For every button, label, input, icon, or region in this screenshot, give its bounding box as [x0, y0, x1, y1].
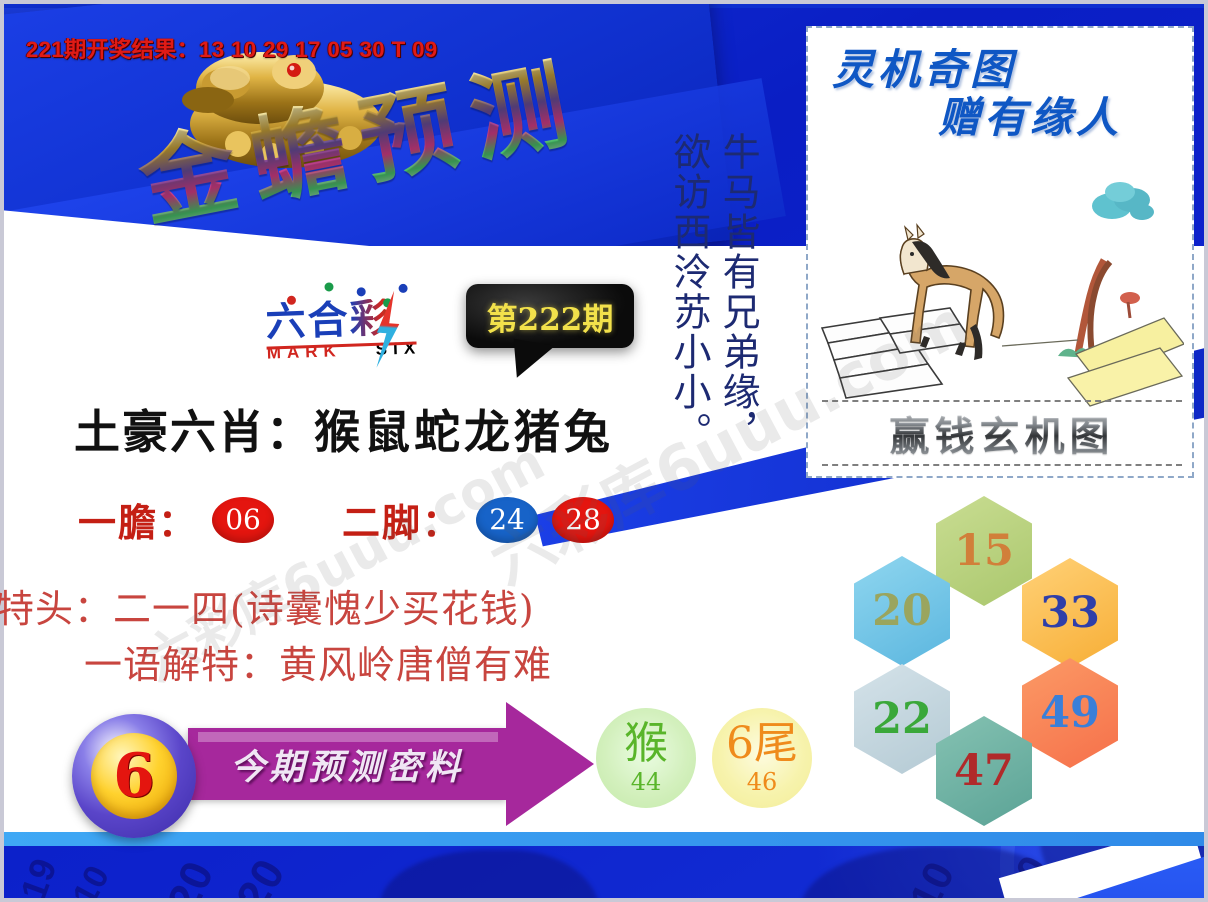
six-zodiac-label: 土豪六肖： — [74, 405, 314, 459]
lucky-number-ball: 6 — [72, 714, 196, 838]
card-title: 灵机奇图 赠有缘人 — [826, 46, 1178, 174]
arrow-body: 今期预测密料 — [188, 728, 506, 800]
yidan-ball: 06 — [212, 497, 274, 543]
hexagon-33[interactable]: 33 — [1022, 558, 1118, 668]
bg-number: 20 — [227, 850, 296, 902]
hexagon-15[interactable]: 15 — [936, 496, 1032, 606]
issue-badge-label: 第222期 — [487, 294, 614, 339]
card-title-line1: 灵机奇图 — [832, 46, 1178, 94]
erjiao-ball-2: 28 — [552, 497, 614, 543]
bg-ball-blob — [380, 850, 600, 902]
lucky-number-inner: 6 — [91, 733, 177, 819]
prediction-arrow-banner[interactable]: 今期预测密料 — [188, 728, 506, 800]
arrow-head-icon — [506, 702, 594, 826]
logo-char-4: 测 — [453, 50, 584, 179]
card-footer-label: 赢钱玄机图 — [890, 404, 1115, 462]
hexagon-number-field: 15 20 33 22 49 47 — [836, 496, 1136, 788]
tetou-line: 特头：二一四(诗囊愧少买花钱) — [0, 578, 535, 633]
tag-zodiac-big: 猴 — [624, 722, 668, 766]
tag-tail-big: 6尾 — [726, 722, 798, 766]
card-footer: 赢钱玄机图 — [822, 400, 1182, 466]
logo-char-3: 预 — [343, 72, 474, 201]
lottery-poster: 10 20 10 20 19 10 20 20 10 10 20 221期开奖结… — [0, 0, 1208, 902]
bg-number: 19 — [12, 852, 66, 902]
six-zodiac-value: 猴鼠蛇龙猪兔 — [314, 405, 614, 459]
vertical-poem: 牛马皆有兄弟缘， 欲访西泠苏小小。 — [668, 132, 758, 452]
logo-char-1: 金 — [124, 114, 255, 243]
poem-column-left: 欲访西泠苏小小。 — [668, 132, 709, 452]
mystic-picture-card: 灵机奇图 赠有缘人 — [806, 26, 1194, 478]
mark-six-logo: 六合彩 MARKSIX — [265, 297, 421, 361]
tag-tail-small: 46 — [747, 770, 778, 794]
draw-result-text: 221期开奖结果：13 10 29 17 05 30 T 09 — [26, 32, 438, 64]
ball-picks-row: 一膽： 06 二脚： 24 28 — [78, 492, 614, 547]
arrow-label: 今期预测密料 — [188, 728, 506, 800]
tag-tail: 6尾 46 — [712, 708, 812, 808]
tag-zodiac: 猴 44 — [596, 708, 696, 808]
hexagon-22[interactable]: 22 — [854, 664, 950, 774]
poem-column-right: 牛马皆有兄弟缘， — [717, 132, 758, 452]
logo-char-2: 蟾 — [234, 93, 365, 222]
horse-and-stairs-illustration — [820, 178, 1184, 408]
card-title-line2: 赠有缘人 — [938, 94, 1178, 142]
issue-badge: 第222期 — [466, 284, 634, 348]
bg-number: 20 — [158, 854, 224, 902]
six-zodiac-row: 土豪六肖：猴鼠蛇龙猪兔 — [74, 396, 614, 462]
jiete-line: 一语解特：黄风岭唐僧有难 — [84, 634, 552, 689]
tag-zodiac-small: 44 — [631, 770, 662, 794]
hexagon-49[interactable]: 49 — [1022, 658, 1118, 768]
erjiao-label: 二脚： — [342, 492, 462, 547]
yidan-label: 一膽： — [78, 492, 198, 547]
bg-number: 10 — [65, 859, 118, 902]
hexagon-20[interactable]: 20 — [854, 556, 950, 666]
bg-number: 10 — [900, 854, 964, 902]
erjiao-ball-1: 24 — [476, 497, 538, 543]
lucky-number-value: 6 — [113, 746, 155, 806]
bottom-strip — [0, 832, 1208, 846]
confetti-dots — [270, 278, 401, 317]
